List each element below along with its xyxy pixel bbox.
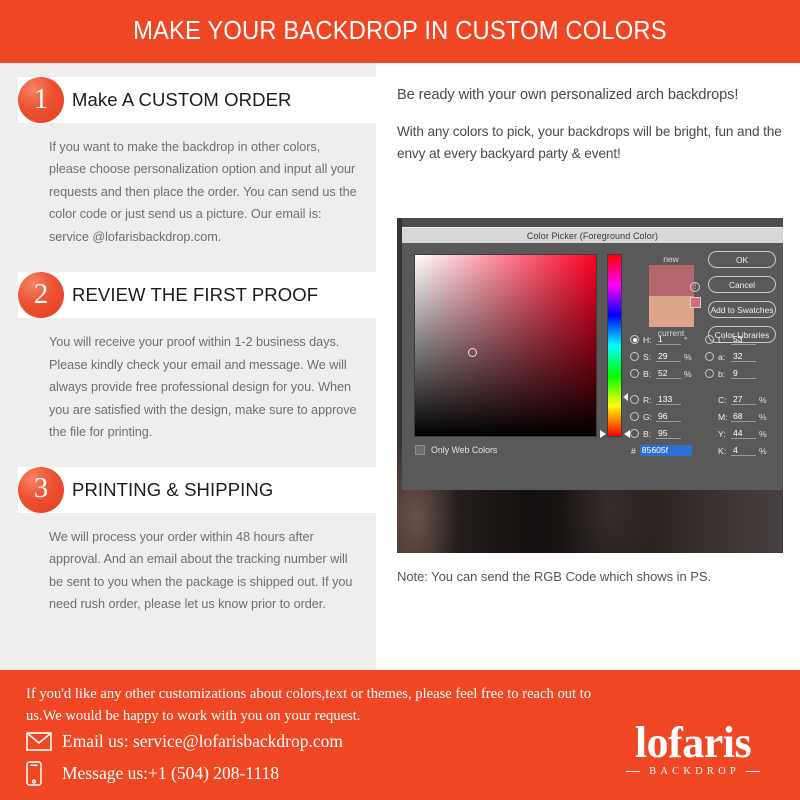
unit-magenta: % bbox=[759, 412, 767, 422]
step-3: 3 PRINTING & SHIPPING We will process yo… bbox=[0, 444, 376, 616]
radio-red[interactable] bbox=[630, 395, 639, 404]
envelope-icon bbox=[26, 732, 62, 751]
dialog-titlebar: Color Picker (Foreground Color) bbox=[402, 227, 783, 243]
new-color-swatch[interactable] bbox=[649, 265, 694, 296]
step-1-number-badge: 1 bbox=[18, 77, 64, 123]
label-green: G: bbox=[643, 412, 656, 422]
step-1-title: Make A CUSTOM ORDER bbox=[72, 77, 292, 123]
header-banner: MAKE YOUR BACKDROP IN CUSTOM COLORS bbox=[0, 0, 800, 63]
radio-green[interactable] bbox=[630, 412, 639, 421]
step-2-header: 2 REVIEW THE FIRST PROOF bbox=[0, 272, 376, 318]
field-yellow[interactable]: Y: 44 % bbox=[705, 428, 780, 439]
step-3-title: PRINTING & SHIPPING bbox=[72, 467, 273, 513]
only-web-colors-checkbox[interactable] bbox=[415, 445, 425, 455]
dialog-top-strip bbox=[402, 218, 783, 227]
unit-brightness: % bbox=[684, 369, 692, 379]
field-black[interactable]: K: 4 % bbox=[705, 445, 780, 456]
field-lab-a[interactable]: a: 32 bbox=[705, 351, 780, 362]
value-red[interactable]: 133 bbox=[656, 394, 681, 405]
radio-cyan-placeholder bbox=[705, 395, 714, 404]
value-hue[interactable]: 1 bbox=[656, 334, 681, 345]
value-magenta[interactable]: 68 bbox=[731, 411, 756, 422]
unit-cyan: % bbox=[759, 395, 767, 405]
label-lab-a: a: bbox=[718, 352, 731, 362]
hue-slider-handle-left-icon[interactable] bbox=[600, 430, 606, 438]
logo-tagline: BACKDROP bbox=[600, 766, 786, 777]
value-cyan[interactable]: 27 bbox=[731, 394, 756, 405]
steps-column: 1 Make A CUSTOM ORDER If you want to mak… bbox=[0, 63, 376, 670]
warning-icons-group bbox=[690, 282, 704, 308]
promo-column: Be ready with your own personalized arch… bbox=[397, 63, 789, 670]
label-red: R: bbox=[643, 395, 656, 405]
promo-subtext: With any colors to pick, your backdrops … bbox=[397, 105, 789, 165]
photoshop-screenshot: Color Picker (Foreground Color) Only Web… bbox=[397, 218, 783, 553]
radio-yellow-placeholder bbox=[705, 429, 714, 438]
field-row-s-a: S: 29 % a: 32 bbox=[630, 348, 780, 365]
rgb-code-note: Note: You can send the RGB Code which sh… bbox=[397, 557, 789, 584]
mobile-phone-icon bbox=[26, 761, 62, 786]
field-lab-l[interactable]: L: 53 bbox=[705, 334, 780, 345]
value-brightness[interactable]: 52 bbox=[656, 368, 681, 379]
value-lab-a[interactable]: 32 bbox=[731, 351, 756, 362]
radio-saturation[interactable] bbox=[630, 352, 639, 361]
step-3-header: 3 PRINTING & SHIPPING bbox=[0, 467, 376, 513]
radio-magenta-placeholder bbox=[705, 412, 714, 421]
label-magenta: M: bbox=[718, 412, 731, 422]
promo-headline: Be ready with your own personalized arch… bbox=[397, 63, 789, 105]
only-web-colors-row[interactable]: Only Web Colors bbox=[415, 445, 497, 455]
current-color-swatch[interactable] bbox=[649, 296, 694, 327]
step-2-title: REVIEW THE FIRST PROOF bbox=[72, 272, 318, 318]
step-2-body: You will receive your proof within 1-2 b… bbox=[0, 318, 376, 443]
field-brightness[interactable]: B: 52 % bbox=[630, 368, 705, 379]
field-cyan[interactable]: C: 27 % bbox=[705, 394, 780, 405]
footer-phone-row[interactable]: Message us:+1 (504) 208-1118 bbox=[26, 761, 279, 786]
unit-hue: ° bbox=[684, 335, 687, 345]
step-1: 1 Make A CUSTOM ORDER If you want to mak… bbox=[0, 63, 376, 248]
label-hue: H: bbox=[643, 335, 656, 345]
radio-hue[interactable] bbox=[630, 335, 639, 344]
logo-tagline-text: BACKDROP bbox=[646, 766, 740, 777]
body-area: 1 Make A CUSTOM ORDER If you want to mak… bbox=[0, 63, 800, 670]
saturation-value-field[interactable] bbox=[414, 254, 597, 437]
label-yellow: Y: bbox=[718, 429, 731, 439]
new-color-label: new bbox=[636, 253, 706, 265]
unit-yellow: % bbox=[759, 429, 767, 439]
field-lab-b[interactable]: b: 9 bbox=[705, 368, 780, 379]
footer-message: If you'd like any other customizations a… bbox=[26, 684, 616, 728]
radio-brightness[interactable] bbox=[630, 369, 639, 378]
field-saturation[interactable]: S: 29 % bbox=[630, 351, 705, 362]
logo-wordmark: lofaris bbox=[600, 722, 786, 764]
field-row-b-b: B: 52 % b: 9 bbox=[630, 365, 780, 382]
step-1-body: If you want to make the backdrop in othe… bbox=[0, 123, 376, 248]
footer-email-label: Email us: service@lofarisbackdrop.com bbox=[62, 731, 343, 752]
logo-rule-right bbox=[746, 771, 760, 772]
radio-blue[interactable] bbox=[630, 429, 639, 438]
not-web-safe-warning-icon[interactable] bbox=[690, 297, 701, 308]
label-cyan: C: bbox=[718, 395, 731, 405]
only-web-colors-label: Only Web Colors bbox=[431, 445, 497, 455]
label-lab-l: L: bbox=[718, 335, 731, 345]
add-to-swatches-button[interactable]: Add to Swatches bbox=[708, 301, 776, 318]
field-row-hex-k: # 85605f K: 4 % bbox=[630, 442, 780, 459]
field-red[interactable]: R: 133 bbox=[630, 394, 705, 405]
hue-slider[interactable] bbox=[607, 254, 622, 437]
footer-phone-label: Message us:+1 (504) 208-1118 bbox=[62, 763, 279, 784]
label-saturation: S: bbox=[643, 352, 656, 362]
step-2: 2 REVIEW THE FIRST PROOF You will receiv… bbox=[0, 248, 376, 443]
color-picker-dialog: Color Picker (Foreground Color) Only Web… bbox=[402, 218, 783, 490]
color-value-fields: H: 1 ° L: 53 bbox=[630, 331, 780, 459]
label-black: K: bbox=[718, 446, 731, 456]
radio-lab-a[interactable] bbox=[705, 352, 714, 361]
panel-collapse-arrow-icon[interactable] bbox=[623, 393, 628, 401]
page-title: MAKE YOUR BACKDROP IN CUSTOM COLORS bbox=[133, 17, 667, 46]
label-blue: B: bbox=[643, 429, 656, 439]
field-row-b-y: B: 95 Y: 44 % bbox=[630, 425, 780, 442]
value-green[interactable]: 96 bbox=[656, 411, 681, 422]
unit-black: % bbox=[759, 446, 767, 456]
poster-root: MAKE YOUR BACKDROP IN CUSTOM COLORS 1 Ma… bbox=[0, 0, 800, 800]
out-of-gamut-warning-icon[interactable] bbox=[690, 282, 700, 292]
field-hue[interactable]: H: 1 ° bbox=[630, 334, 705, 345]
field-hex[interactable]: # 85605f bbox=[630, 442, 705, 459]
dialog-title: Color Picker (Foreground Color) bbox=[527, 231, 658, 241]
field-blue[interactable]: B: 95 bbox=[630, 428, 705, 439]
dialog-content: Only Web Colors new current bbox=[402, 243, 783, 490]
value-lab-b[interactable]: 9 bbox=[731, 368, 756, 379]
unit-saturation: % bbox=[684, 352, 692, 362]
label-lab-b: b: bbox=[718, 369, 731, 379]
radio-lab-l[interactable] bbox=[705, 335, 714, 344]
value-yellow[interactable]: 44 bbox=[731, 428, 756, 439]
radio-black-placeholder bbox=[705, 446, 714, 455]
hex-symbol: # bbox=[631, 446, 636, 456]
logo-rule-left bbox=[626, 771, 640, 772]
footer-banner: If you'd like any other customizations a… bbox=[0, 670, 800, 800]
step-3-number-badge: 3 bbox=[18, 467, 64, 513]
fields-spacer bbox=[630, 382, 780, 391]
color-selection-marker[interactable] bbox=[468, 348, 477, 357]
value-blue[interactable]: 95 bbox=[656, 428, 681, 439]
field-row-r-c: R: 133 C: 27 % bbox=[630, 391, 780, 408]
footer-email-row[interactable]: Email us: service@lofarisbackdrop.com bbox=[26, 731, 343, 752]
cancel-button[interactable]: Cancel bbox=[708, 276, 776, 293]
hex-input[interactable]: 85605f bbox=[640, 445, 692, 456]
brand-logo: lofaris BACKDROP bbox=[600, 722, 786, 777]
step-1-header: 1 Make A CUSTOM ORDER bbox=[0, 77, 376, 123]
ok-button[interactable]: OK bbox=[708, 251, 776, 268]
field-row-g-m: G: 96 M: 68 % bbox=[630, 408, 780, 425]
field-magenta[interactable]: M: 68 % bbox=[705, 411, 780, 422]
value-black[interactable]: 4 bbox=[731, 445, 756, 456]
value-saturation[interactable]: 29 bbox=[656, 351, 681, 362]
label-brightness: B: bbox=[643, 369, 656, 379]
value-lab-l[interactable]: 53 bbox=[731, 334, 756, 345]
field-green[interactable]: G: 96 bbox=[630, 411, 705, 422]
radio-lab-b[interactable] bbox=[705, 369, 714, 378]
field-row-h-l: H: 1 ° L: 53 bbox=[630, 331, 780, 348]
step-3-body: We will process your order within 48 hou… bbox=[0, 513, 376, 616]
